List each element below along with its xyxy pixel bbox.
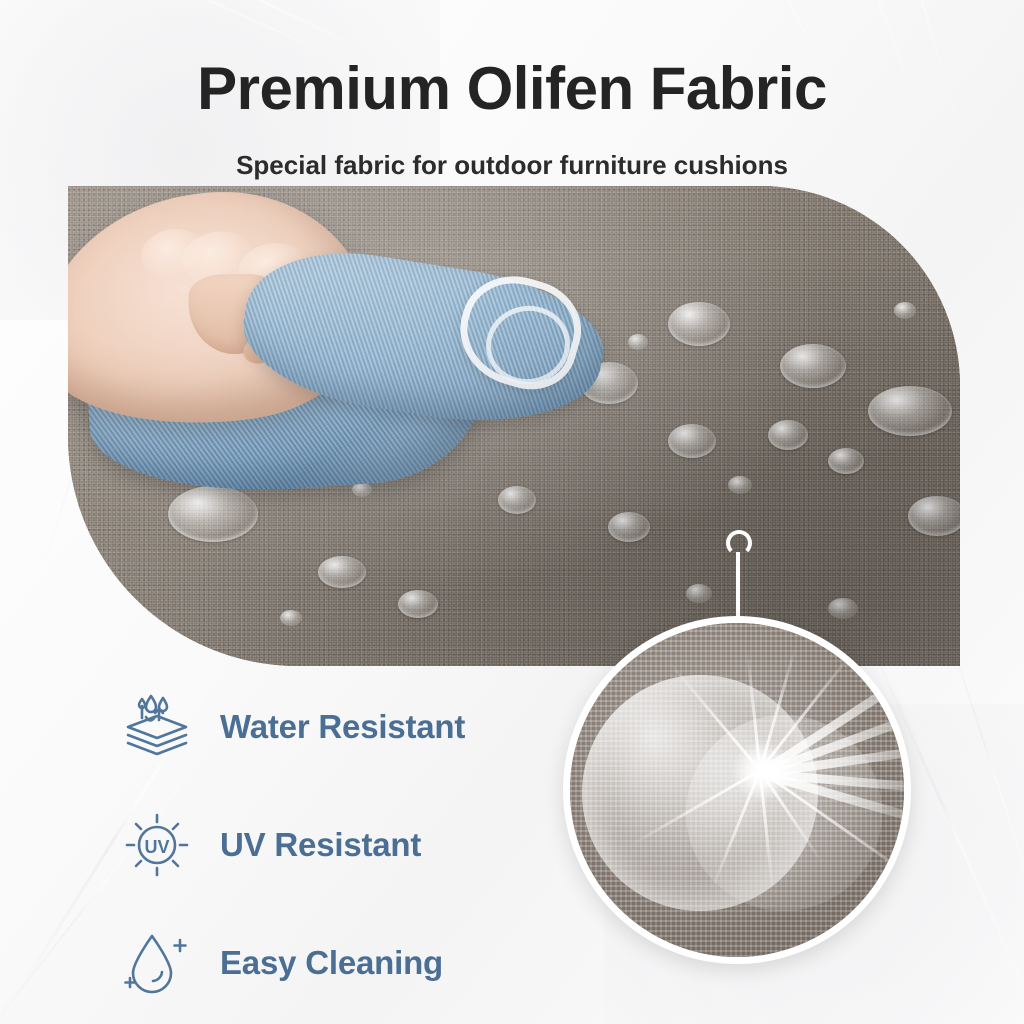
product-infographic: Premium Olifen Fabric Special fabric for…	[0, 0, 1024, 1024]
magnifier-inset	[563, 616, 911, 964]
feature-label: Water Resistant	[220, 708, 465, 746]
hero-photo	[68, 186, 960, 666]
feature-label: Easy Cleaning	[220, 944, 443, 982]
uv-icon-text: UV	[144, 837, 169, 857]
photo-vignette	[68, 186, 960, 666]
feature-label: UV Resistant	[220, 826, 421, 864]
feature-list: Water Resistant UV UV Resistant	[120, 690, 465, 1000]
water-drop-layers-icon	[120, 690, 194, 764]
droplet-sparkle-icon	[120, 926, 194, 1000]
page-subtitle: Special fabric for outdoor furniture cus…	[0, 150, 1024, 181]
feature-easy-cleaning: Easy Cleaning	[120, 926, 465, 1000]
feature-water-resistant: Water Resistant	[120, 690, 465, 764]
page-title: Premium Olifen Fabric	[0, 54, 1024, 123]
callout-stem	[736, 552, 740, 620]
feature-uv-resistant: UV UV Resistant	[120, 808, 465, 882]
light-flare-core	[732, 741, 792, 801]
sun-uv-icon: UV	[120, 808, 194, 882]
